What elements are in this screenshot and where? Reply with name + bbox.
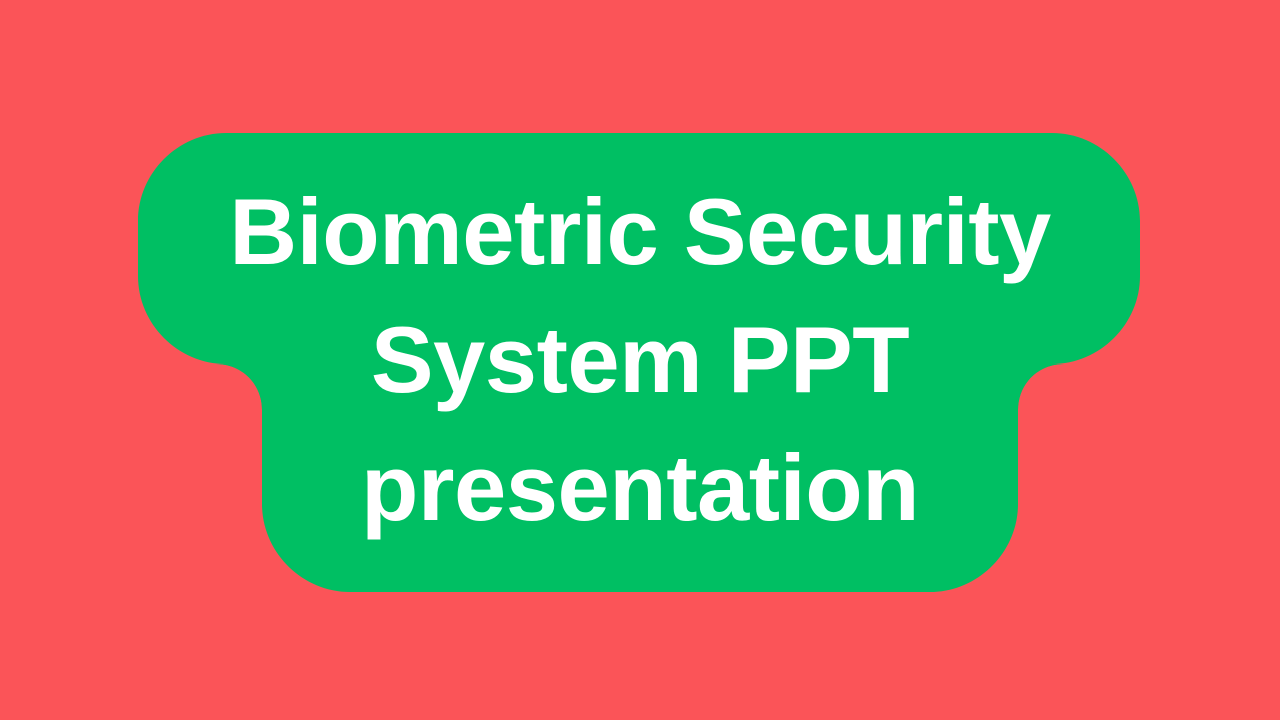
slide-canvas: Biometric Security System PPT presentati… [0, 0, 1280, 720]
slide-title-block: Biometric Security System PPT presentati… [0, 0, 1280, 720]
title-line-3: presentation [140, 424, 1140, 552]
title-line-1: Biometric Security [140, 168, 1140, 296]
title-line-2: System PPT [140, 296, 1140, 424]
